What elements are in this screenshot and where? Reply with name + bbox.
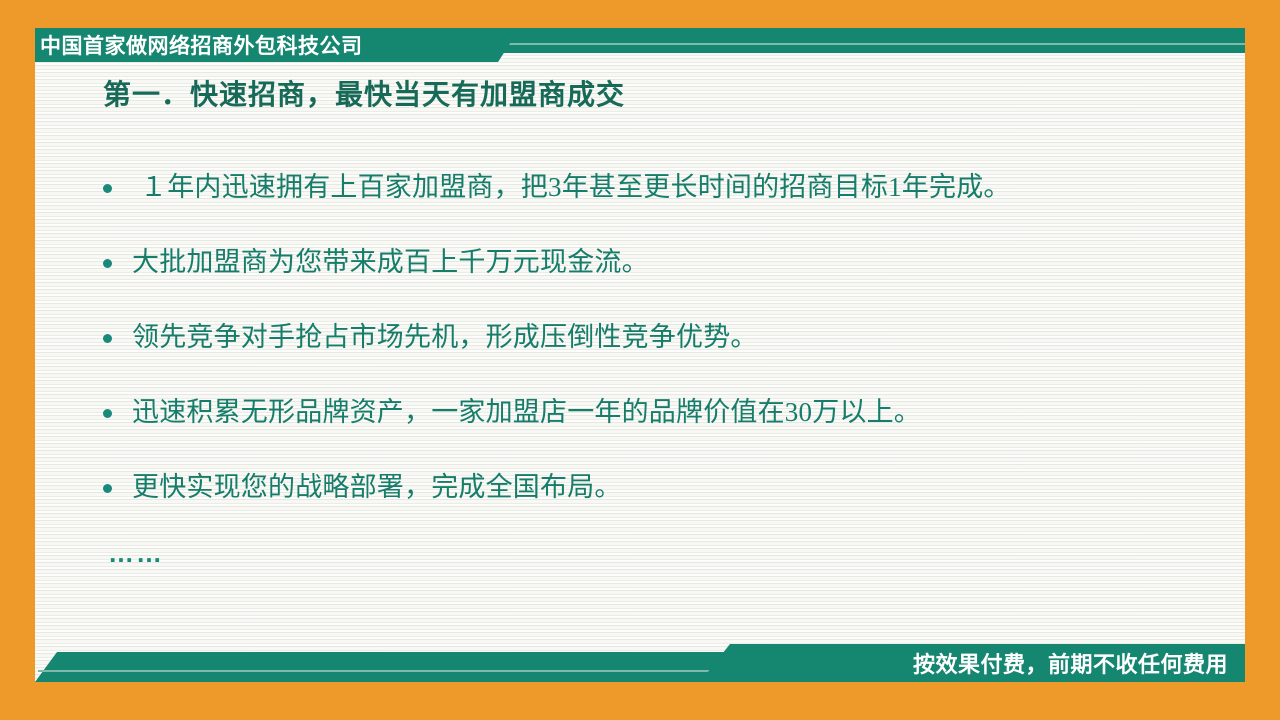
bullet-dot-icon <box>103 484 112 493</box>
bullet-dot-icon <box>103 334 112 343</box>
list-item: 领先竞争对手抢占市场先机，形成压倒性竞争优势。 <box>103 320 1203 395</box>
list-item: １年内迅速拥有上百家加盟商，把3年甚至更长时间的招商目标1年完成。 <box>103 170 1203 245</box>
bullet-dot-icon <box>103 409 112 418</box>
bullet-dot-icon <box>103 184 112 193</box>
header-divider-line <box>507 43 1245 45</box>
list-item-text: 大批加盟商为您带来成百上千万元现金流。 <box>132 245 1203 279</box>
list-item: 迅速积累无形品牌资产，一家加盟店一年的品牌价值在30万以上。 <box>103 395 1203 470</box>
list-item-text: 领先竞争对手抢占市场先机，形成压倒性竞争优势。 <box>132 320 1203 354</box>
list-item-text: 迅速积累无形品牌资产，一家加盟店一年的品牌价值在30万以上。 <box>132 395 1203 429</box>
bullet-dot-icon <box>103 259 112 268</box>
list-item: 更快实现您的战略部署，完成全国布局。 <box>103 470 1203 545</box>
list-item-text: 更快实现您的战略部署，完成全国布局。 <box>132 470 1203 504</box>
ellipsis-text: …… <box>108 543 164 563</box>
section-heading: 第一．快速招商，最快当天有加盟商成交 <box>103 73 625 113</box>
list-item-text: １年内迅速拥有上百家加盟商，把3年甚至更长时间的招商目标1年完成。 <box>132 170 1203 204</box>
slide-canvas: 中国首家做网络招商外包科技公司 第一．快速招商，最快当天有加盟商成交 １年内迅速… <box>0 0 1280 720</box>
bullet-list: １年内迅速拥有上百家加盟商，把3年甚至更长时间的招商目标1年完成。 大批加盟商为… <box>103 170 1203 545</box>
list-item: 大批加盟商为您带来成百上千万元现金流。 <box>103 245 1203 320</box>
header-title: 中国首家做网络招商外包科技公司 <box>40 33 510 61</box>
footer-tagline: 按效果付费，前期不收任何费用 <box>913 650 1228 680</box>
